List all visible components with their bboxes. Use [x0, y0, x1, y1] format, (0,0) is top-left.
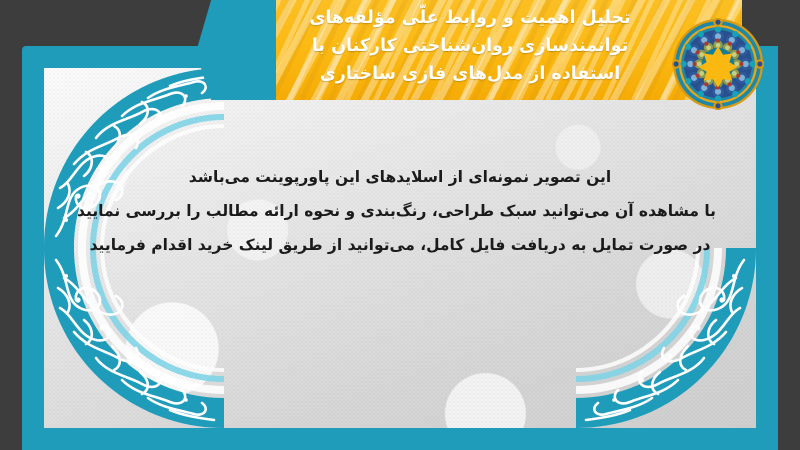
page-title: تحلیل اهمیت و روابط علّی مؤلفه‌های توانم… — [280, 4, 660, 88]
banner-chevron — [196, 0, 280, 100]
title-line: تحلیل اهمیت و روابط علّی مؤلفه‌های — [280, 4, 660, 32]
body-line: با مشاهده آن می‌توانید سبک طراحی، رنگ‌بن… — [84, 194, 716, 228]
body-line: این تصویر نمونه‌ای از اسلایدهای این پاور… — [84, 160, 716, 194]
persian-medallion-icon — [672, 18, 764, 110]
presentation-viewer: این تصویر نمونه‌ای از اسلایدهای این پاور… — [0, 0, 800, 450]
chrome-notch — [0, 0, 200, 46]
arabesque-corner-icon — [44, 248, 224, 428]
title-line: توانمندسازی روان‌شناختی کارکنان با — [280, 32, 660, 60]
slide-background: این تصویر نمونه‌ای از اسلایدهای این پاور… — [44, 68, 756, 428]
arabesque-corner-icon — [576, 248, 756, 428]
title-line: استفاده از مدل‌های فازی ساختاری — [280, 60, 660, 88]
slide-body-text: این تصویر نمونه‌ای از اسلایدهای این پاور… — [84, 160, 716, 262]
body-line: در صورت تمایل به دریافت فایل کامل، می‌تو… — [84, 228, 716, 262]
slide-canvas: این تصویر نمونه‌ای از اسلایدهای این پاور… — [22, 46, 778, 450]
